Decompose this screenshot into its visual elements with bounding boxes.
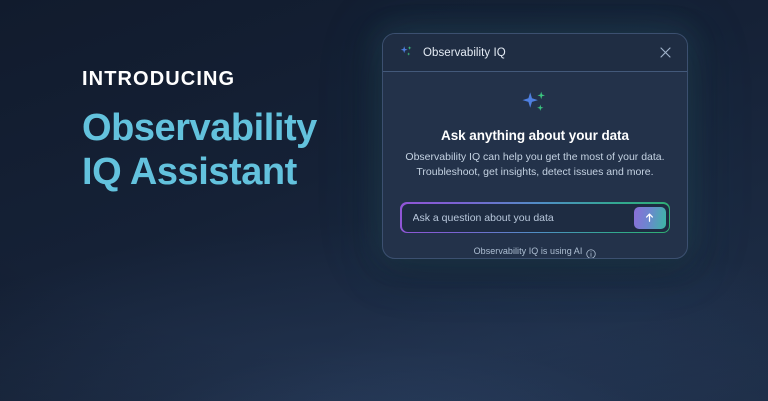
- sparkles-icon: [399, 45, 414, 60]
- sparkles-icon: [520, 90, 550, 120]
- eyebrow-label: INTRODUCING: [82, 68, 372, 90]
- panel-description-line-1: Observability IQ can help you get the mo…: [405, 150, 664, 165]
- panel-body: Ask anything about your data Observabili…: [383, 72, 687, 258]
- ai-disclaimer-text: Observability IQ is using AI: [474, 246, 583, 256]
- info-icon[interactable]: [586, 246, 596, 256]
- arrow-up-icon: [644, 212, 655, 223]
- panel-description-line-2: Troubleshoot, get insights, detect issue…: [416, 165, 653, 180]
- panel-title: Observability IQ: [423, 47, 647, 59]
- hero-text-block: INTRODUCING Observability IQ Assistant: [82, 68, 372, 194]
- observability-iq-panel: Observability IQ Ask anything about your…: [382, 33, 688, 259]
- headline-line-2: IQ Assistant: [82, 150, 372, 194]
- question-input-inner: [402, 204, 669, 232]
- headline-line-1: Observability: [82, 106, 372, 150]
- panel-header: Observability IQ: [383, 34, 687, 72]
- page-title: Observability IQ Assistant: [82, 106, 372, 194]
- panel-heading: Ask anything about your data: [441, 128, 629, 143]
- close-icon[interactable]: [656, 44, 674, 62]
- panel-footer: Observability IQ is using AI: [403, 246, 667, 256]
- search-input[interactable]: [413, 204, 634, 232]
- send-button[interactable]: [634, 207, 666, 229]
- question-input-container: [400, 202, 670, 233]
